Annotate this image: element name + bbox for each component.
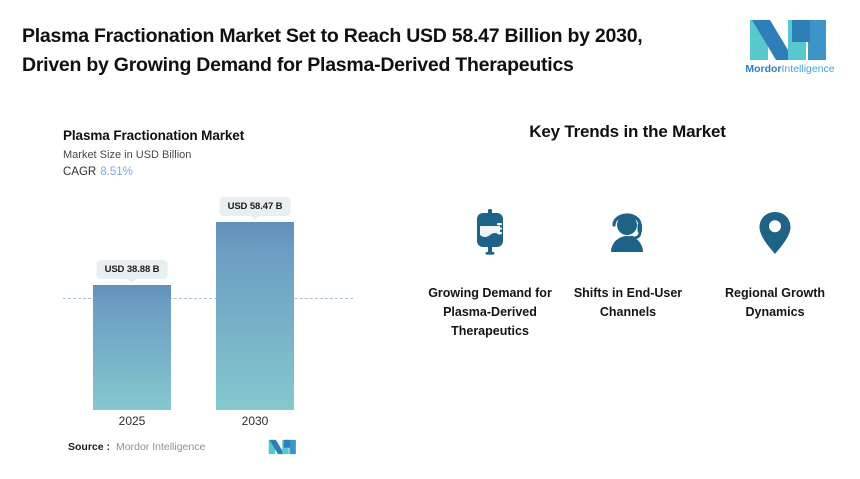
iv-blood-bag-icon bbox=[420, 205, 560, 261]
source-value: Mordor Intelligence bbox=[116, 441, 205, 453]
headline-line-1: Plasma Fractionation Market Set to Reach… bbox=[22, 22, 712, 51]
mordor-logo-mark-small-icon bbox=[268, 438, 298, 456]
trend-item-regional-growth: Regional Growth Dynamics bbox=[705, 205, 845, 322]
mordor-logo-wordmark: MordorIntelligence bbox=[740, 63, 840, 75]
key-trends-title: Key Trends in the Market bbox=[395, 122, 860, 142]
trend-item-growing-demand: Growing Demand for Plasma-Derived Therap… bbox=[420, 205, 560, 341]
trend-label-regional-growth: Regional Growth Dynamics bbox=[705, 284, 845, 322]
key-trends-panel: Key Trends in the Market Growing Demand … bbox=[395, 100, 860, 479]
bar-value-badge-2030: USD 58.47 B bbox=[220, 197, 291, 216]
mordor-intelligence-logo: MordorIntelligence bbox=[740, 18, 840, 80]
source-label: Source : bbox=[68, 441, 110, 453]
location-pin-icon bbox=[705, 205, 845, 261]
chart-title: Plasma Fractionation Market bbox=[63, 128, 244, 143]
bar-group-2030: USD 58.47 B bbox=[216, 222, 294, 410]
header: Plasma Fractionation Market Set to Reach… bbox=[0, 0, 860, 100]
mordor-logo-mark-icon bbox=[748, 18, 832, 62]
headset-agent-icon bbox=[558, 205, 698, 261]
bar-2030 bbox=[216, 222, 294, 410]
logo-word-intelligence: Intelligence bbox=[782, 63, 835, 75]
trend-label-end-user-channels: Shifts in End-User Channels bbox=[558, 284, 698, 322]
x-axis-label-2030: 2030 bbox=[216, 414, 294, 428]
bar-value-badge-2025: USD 38.88 B bbox=[97, 260, 168, 279]
logo-word-mordor: Mordor bbox=[745, 63, 781, 75]
page-title: Plasma Fractionation Market Set to Reach… bbox=[22, 22, 712, 80]
headline-line-2: Driven by Growing Demand for Plasma-Deri… bbox=[22, 51, 712, 80]
x-axis-label-2025: 2025 bbox=[93, 414, 171, 428]
trend-item-end-user-channels: Shifts in End-User Channels bbox=[558, 205, 698, 322]
bar-2025 bbox=[93, 285, 171, 410]
chart-panel: Plasma Fractionation Market Market Size … bbox=[0, 100, 395, 479]
chart-subtitle: Market Size in USD Billion bbox=[63, 149, 191, 161]
bar-group-2025: USD 38.88 B bbox=[93, 285, 171, 410]
source-row: Source :Mordor Intelligence bbox=[68, 441, 205, 453]
cagr-row: CAGR8.51% bbox=[63, 166, 133, 178]
trend-label-growing-demand: Growing Demand for Plasma-Derived Therap… bbox=[420, 284, 560, 341]
cagr-value: 8.51% bbox=[100, 166, 133, 178]
cagr-label: CAGR bbox=[63, 166, 96, 178]
bar-chart-plot-area: USD 38.88 B USD 58.47 B 2025 2030 bbox=[63, 195, 353, 410]
